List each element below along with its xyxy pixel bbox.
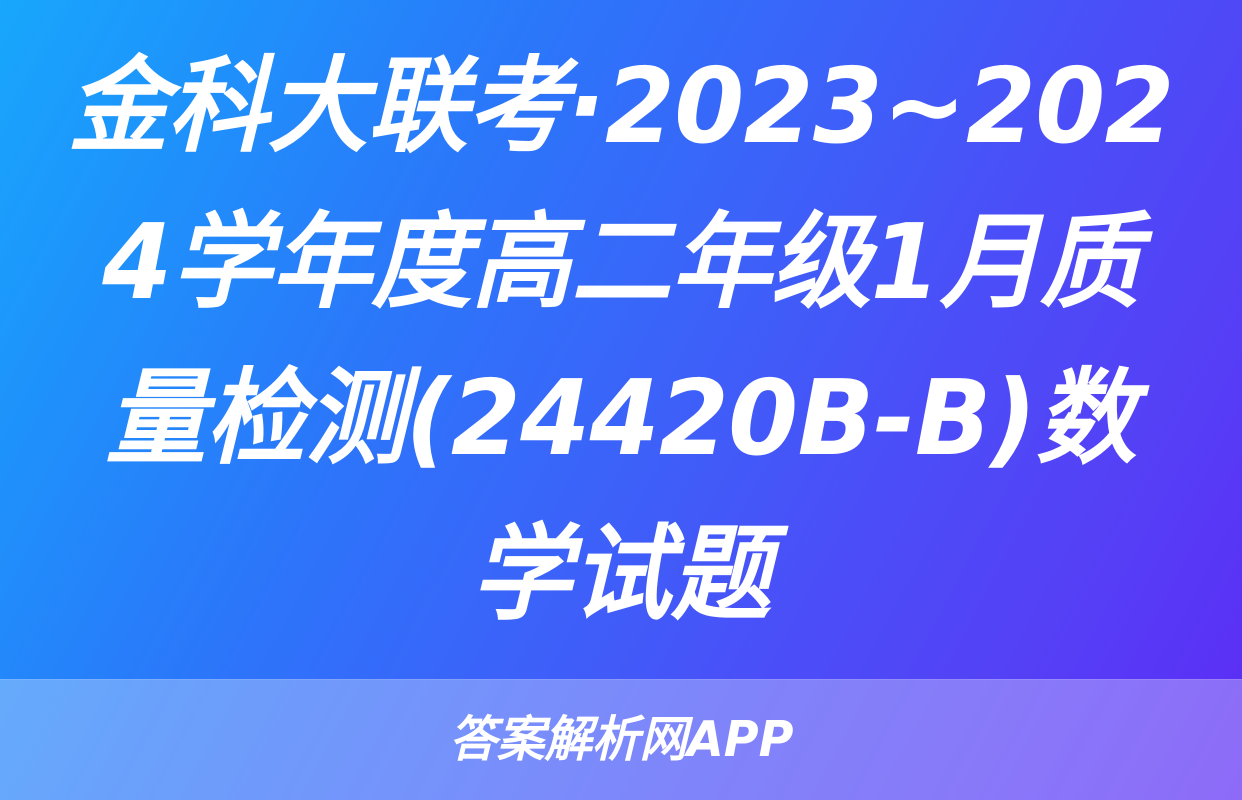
exam-cover-card: 金科大联考·2023~2024学年度高二年级1月质量检测(24420B-B)数学…: [0, 0, 1242, 800]
page-title: 金科大联考·2023~2024学年度高二年级1月质量检测(24420B-B)数学…: [64, 28, 1178, 652]
band-divider: [0, 679, 1242, 680]
title-block: 金科大联考·2023~2024学年度高二年级1月质量检测(24420B-B)数学…: [0, 0, 1242, 679]
watermark-label: 答案解析网APP: [449, 715, 793, 764]
watermark-band: 答案解析网APP: [0, 679, 1242, 800]
